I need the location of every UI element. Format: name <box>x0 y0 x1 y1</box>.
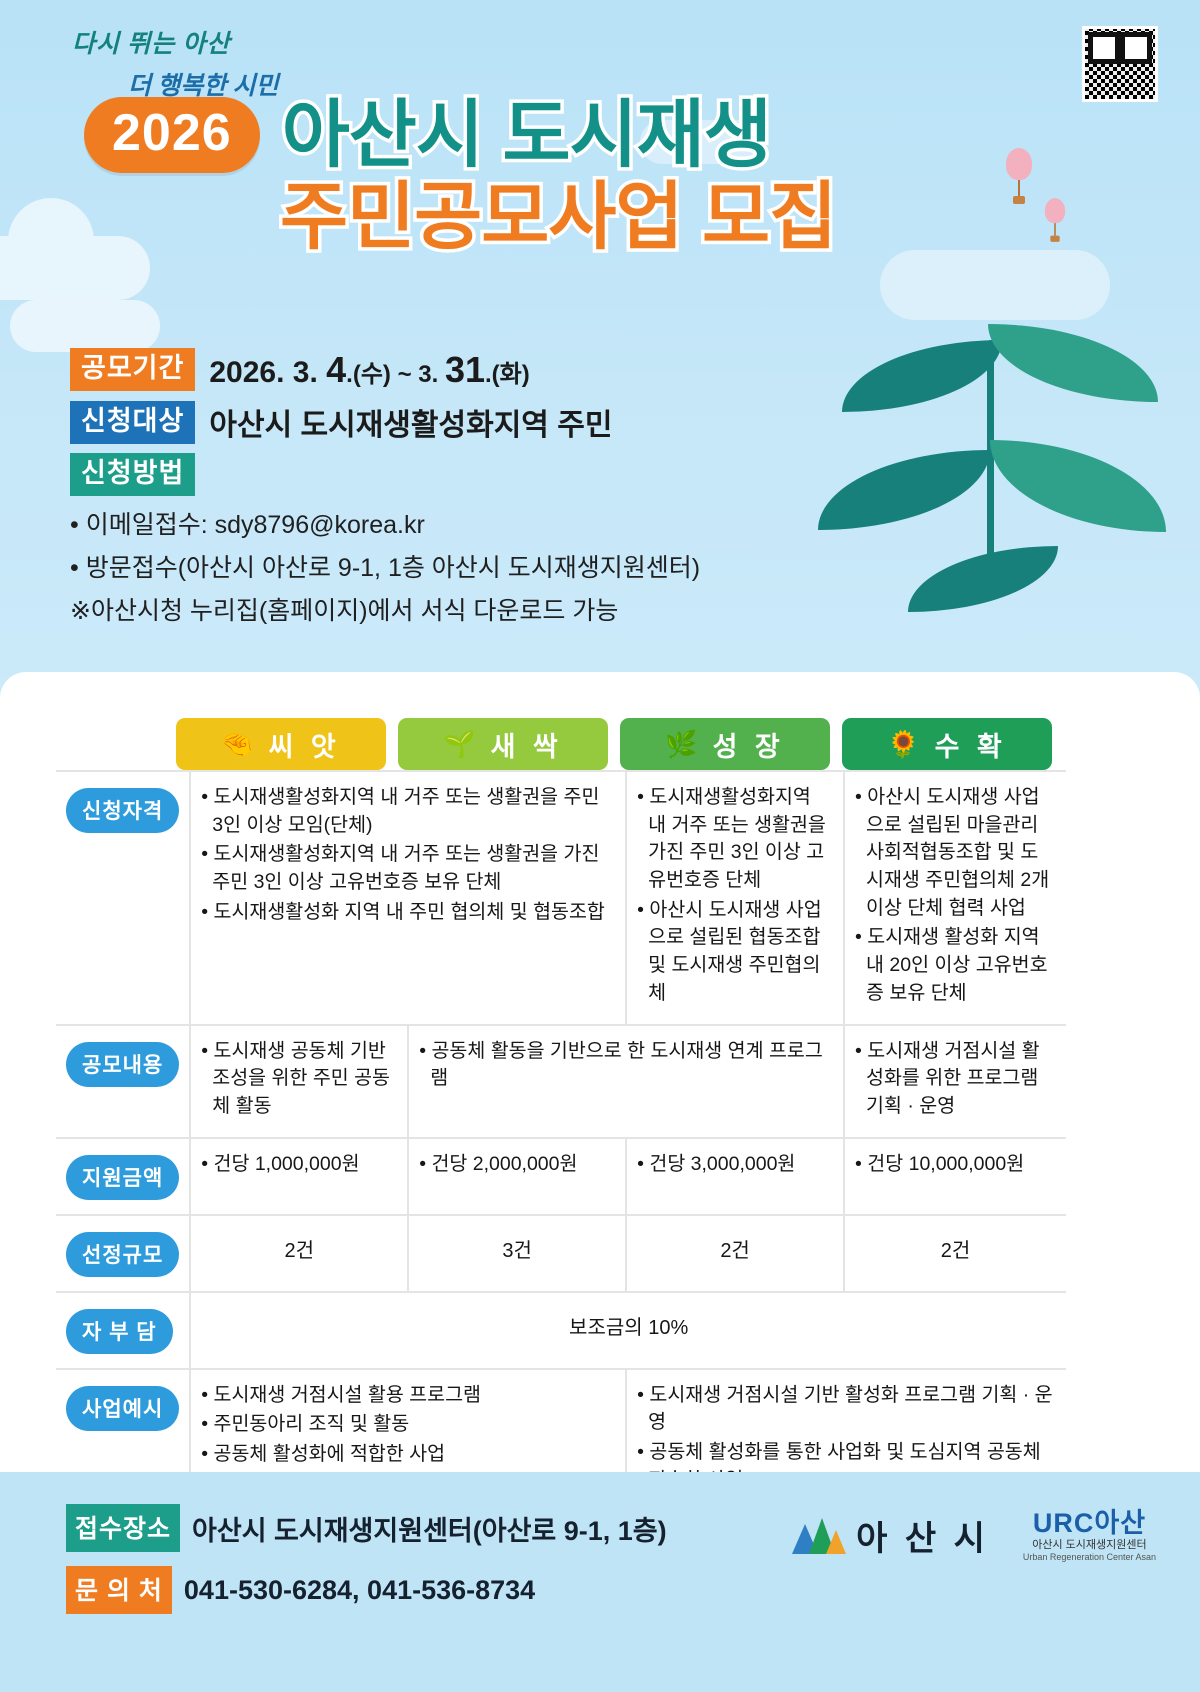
target-row: 신청대상 아산시 도시재생활성화지역 주민 <box>70 400 770 444</box>
poster-footer: 접수장소 아산시 도시재생지원센터(아산로 9-1, 1층) 문 의 처 041… <box>0 1472 1200 1692</box>
tab-stage-sprout[interactable]: 🌱 새 싹 <box>398 718 608 770</box>
target-value: 아산시 도시재생활성화지역 주민 <box>209 400 612 444</box>
period-value: 2026. 3. 4.(수) ~ 3. 31.(화) <box>209 349 529 391</box>
period-label: 공모기간 <box>70 348 195 391</box>
row-label: 공모내용 <box>66 1042 179 1087</box>
list-item: 아산시 도시재생 사업으로 설립된 협동조합 및 도시재생 주민협의체 <box>637 897 833 1008</box>
tab-label: 씨 앗 <box>269 725 341 764</box>
tab-stage-harvest[interactable]: 🌻 수 확 <box>842 718 1052 770</box>
table-cell: 도시재생 거점시설 활성화를 위한 프로그램 기획 · 운영 <box>844 1025 1066 1138</box>
cell-list: 도시재생 거점시설 활성화를 위한 프로그램 기획 · 운영 <box>855 1038 1056 1121</box>
stage-tabs: 🤏 씨 앗 🌱 새 싹 🌿 성 장 🌻 수 확 <box>0 672 1200 770</box>
title-line-1: 아산시 도시재생 <box>282 96 771 174</box>
table-cell: 2건 <box>626 1215 844 1292</box>
cell-list: 공동체 활동을 기반으로 한 도시재생 연계 프로그램 <box>419 1038 833 1093</box>
sprout-icon: 🌱 <box>443 729 480 760</box>
footer-logos: 아 산 시 URC아산 아산시 도시재생지원센터 Urban Regenerat… <box>792 1508 1156 1562</box>
table-cell: 2건 <box>190 1215 408 1292</box>
row-label: 선정규모 <box>66 1232 179 1277</box>
download-note: ※아산시청 누리집(홈페이지)에서 서식 다운로드 가능 <box>70 591 770 627</box>
table-cell: 건당 3,000,000원 <box>626 1138 844 1215</box>
row-label-cell: 지원금액 <box>56 1138 190 1215</box>
asan-city-logo-text: 아 산 시 <box>856 1511 989 1560</box>
program-table-card: 🤏 씨 앗 🌱 새 싹 🌿 성 장 🌻 수 확 신청자격도시재생활성화지역 내 … <box>0 672 1200 1472</box>
row-label-cell: 공모내용 <box>56 1025 190 1138</box>
table-cell: 도시재생활성화지역 내 거주 또는 생활권을 가진 주민 3인 이상 고유번호증… <box>626 771 844 1025</box>
list-item: 주민동아리 조직 및 활동 <box>201 1411 615 1439</box>
table-cell: 건당 10,000,000원 <box>844 1138 1066 1215</box>
cloud-decoration <box>10 300 160 352</box>
list-item: 아산시 도시재생 사업으로 설립된 마을관리사회적협동조합 및 도시재생 주민협… <box>855 784 1056 922</box>
table-row: 신청자격도시재생활성화지역 내 거주 또는 생활권을 주민 3인 이상 모임(단… <box>56 771 1066 1025</box>
table-cell: 2건 <box>844 1215 1066 1292</box>
list-item: 건당 10,000,000원 <box>855 1151 1056 1179</box>
cell-list: 도시재생 거점시설 활용 프로그램주민동아리 조직 및 활동공동체 활성화에 적… <box>201 1382 615 1469</box>
cell-list: 건당 1,000,000원 <box>201 1151 397 1179</box>
tab-stage-growth[interactable]: 🌿 성 장 <box>620 718 830 770</box>
list-item: 공동체 활성화에 적합한 사업 <box>201 1441 615 1469</box>
growing-plant-icon: 🌿 <box>665 729 702 760</box>
row-label: 자 부 담 <box>66 1309 173 1354</box>
table-cell: 도시재생활성화지역 내 거주 또는 생활권을 주민 3인 이상 모임(단체)도시… <box>190 771 626 1025</box>
table-row: 공모내용도시재생 공동체 기반 조성을 위한 주민 공동체 활동공동체 활동을 … <box>56 1025 1066 1138</box>
cell-list: 도시재생활성화지역 내 거주 또는 생활권을 가진 주민 3인 이상 고유번호증… <box>637 784 833 1008</box>
title-line-2: 주민공모사업 모집 <box>280 175 836 258</box>
table-cell: 건당 2,000,000원 <box>408 1138 626 1215</box>
target-label: 신청대상 <box>70 401 195 444</box>
cell-list: 건당 2,000,000원 <box>419 1151 615 1179</box>
city-slogan: 다시 뛰는 아산 더 행복한 시민 <box>72 24 402 104</box>
contact-label: 문 의 처 <box>66 1566 172 1614</box>
table-cell: 보조금의 10% <box>190 1292 1066 1369</box>
community-illustration <box>812 300 1172 640</box>
list-item: 도시재생 활성화 지역 내 20인 이상 고유번호증 보유 단체 <box>855 924 1056 1007</box>
announcement-info: 공모기간 2026. 3. 4.(수) ~ 3. 31.(화) 신청대상 아산시… <box>70 348 770 627</box>
harvest-hand-icon: 🌻 <box>887 729 924 760</box>
asan-mountain-icon <box>792 1516 846 1554</box>
cell-list: 건당 3,000,000원 <box>637 1151 833 1179</box>
list-item: 이메일접수: sdy8796@korea.kr <box>70 505 770 541</box>
table-cell: 아산시 도시재생 사업으로 설립된 마을관리사회적협동조합 및 도시재생 주민협… <box>844 771 1066 1025</box>
list-item: 도시재생 공동체 기반 조성을 위한 주민 공동체 활동 <box>201 1038 397 1121</box>
list-item: 도시재생 거점시설 활성화를 위한 프로그램 기획 · 운영 <box>855 1038 1056 1121</box>
table-row: 자 부 담보조금의 10% <box>56 1292 1066 1369</box>
tab-label: 새 싹 <box>491 725 563 764</box>
contact-value: 041-530-6284, 041-536-8734 <box>184 1575 535 1606</box>
table-cell: 3건 <box>408 1215 626 1292</box>
list-item: 도시재생활성화지역 내 거주 또는 생활권을 가진 주민 3인 이상 고유번호증… <box>201 841 615 896</box>
asan-city-logo: 아 산 시 <box>792 1511 989 1560</box>
list-item: 건당 3,000,000원 <box>637 1151 833 1179</box>
tab-label: 성 장 <box>713 725 785 764</box>
method-list: 이메일접수: sdy8796@korea.kr 방문접수(아산시 아산로 9-1… <box>70 505 770 584</box>
cell-list: 도시재생 공동체 기반 조성을 위한 주민 공동체 활동 <box>201 1038 397 1121</box>
hot-air-balloon-icon <box>1045 198 1065 242</box>
table-cell: 건당 1,000,000원 <box>190 1138 408 1215</box>
list-item: 도시재생활성화지역 내 거주 또는 생활권을 주민 3인 이상 모임(단체) <box>201 784 615 839</box>
row-label: 지원금액 <box>66 1155 179 1200</box>
table-row: 지원금액건당 1,000,000원건당 2,000,000원건당 3,000,0… <box>56 1138 1066 1215</box>
method-row: 신청방법 <box>70 453 770 496</box>
urc-logo-text: URC아산 <box>1023 1508 1156 1539</box>
method-label: 신청방법 <box>70 453 195 496</box>
urc-name-kr: 아산시 도시재생지원센터 <box>1023 1539 1156 1552</box>
hand-seed-icon: 🤏 <box>221 729 258 760</box>
list-item: 공동체 활동을 기반으로 한 도시재생 연계 프로그램 <box>419 1038 833 1093</box>
tab-label: 수 확 <box>935 725 1007 764</box>
row-label-cell: 신청자격 <box>56 771 190 1025</box>
table-cell: 공동체 활동을 기반으로 한 도시재생 연계 프로그램 <box>408 1025 844 1138</box>
reception-place-value: 아산시 도시재생지원센터(아산로 9-1, 1층) <box>192 1509 667 1548</box>
row-label-cell: 자 부 담 <box>56 1292 190 1369</box>
tab-stage-seed[interactable]: 🤏 씨 앗 <box>176 718 386 770</box>
contact-row: 문 의 처 041-530-6284, 041-536-8734 <box>66 1566 667 1614</box>
cell-list: 도시재생활성화지역 내 거주 또는 생활권을 주민 3인 이상 모임(단체)도시… <box>201 784 615 926</box>
hot-air-balloon-icon <box>1006 148 1032 204</box>
list-item: 도시재생활성화 지역 내 주민 협의체 및 협동조합 <box>201 899 615 927</box>
list-item: 도시재생 거점시설 활용 프로그램 <box>201 1382 615 1410</box>
table-cell: 도시재생 공동체 기반 조성을 위한 주민 공동체 활동 <box>190 1025 408 1138</box>
list-item: 도시재생 거점시설 기반 활성화 프로그램 기획 · 운영 <box>637 1382 1056 1437</box>
reception-place-row: 접수장소 아산시 도시재생지원센터(아산로 9-1, 1층) <box>66 1504 667 1552</box>
program-comparison-table: 신청자격도시재생활성화지역 내 거주 또는 생활권을 주민 3인 이상 모임(단… <box>56 770 1066 1510</box>
slogan-line-1: 다시 뛰는 아산 <box>72 24 402 60</box>
year-badge: 2026 <box>84 97 260 173</box>
cell-list: 건당 10,000,000원 <box>855 1151 1056 1179</box>
period-row: 공모기간 2026. 3. 4.(수) ~ 3. 31.(화) <box>70 348 770 391</box>
qr-code[interactable] <box>1082 26 1158 102</box>
row-label-cell: 선정규모 <box>56 1215 190 1292</box>
row-label: 사업예시 <box>66 1386 179 1431</box>
list-item: 건당 1,000,000원 <box>201 1151 397 1179</box>
list-item: 방문접수(아산시 아산로 9-1, 1층 아산시 도시재생지원센터) <box>70 548 770 584</box>
cell-list: 아산시 도시재생 사업으로 설립된 마을관리사회적협동조합 및 도시재생 주민협… <box>855 784 1056 1008</box>
urc-asan-logo: URC아산 아산시 도시재생지원센터 Urban Regeneration Ce… <box>1023 1508 1156 1562</box>
row-label: 신청자격 <box>66 788 179 833</box>
poster-header: 다시 뛰는 아산 더 행복한 시민 2026 아산시 도시재생 주민공모사업 모… <box>0 0 1200 700</box>
urc-name-en: Urban Regeneration Center Asan <box>1023 1552 1156 1562</box>
list-item: 건당 2,000,000원 <box>419 1151 615 1179</box>
table-row: 선정규모2건3건2건2건 <box>56 1215 1066 1292</box>
list-item: 도시재생활성화지역 내 거주 또는 생활권을 가진 주민 3인 이상 고유번호증… <box>637 784 833 895</box>
reception-place-label: 접수장소 <box>66 1504 180 1552</box>
